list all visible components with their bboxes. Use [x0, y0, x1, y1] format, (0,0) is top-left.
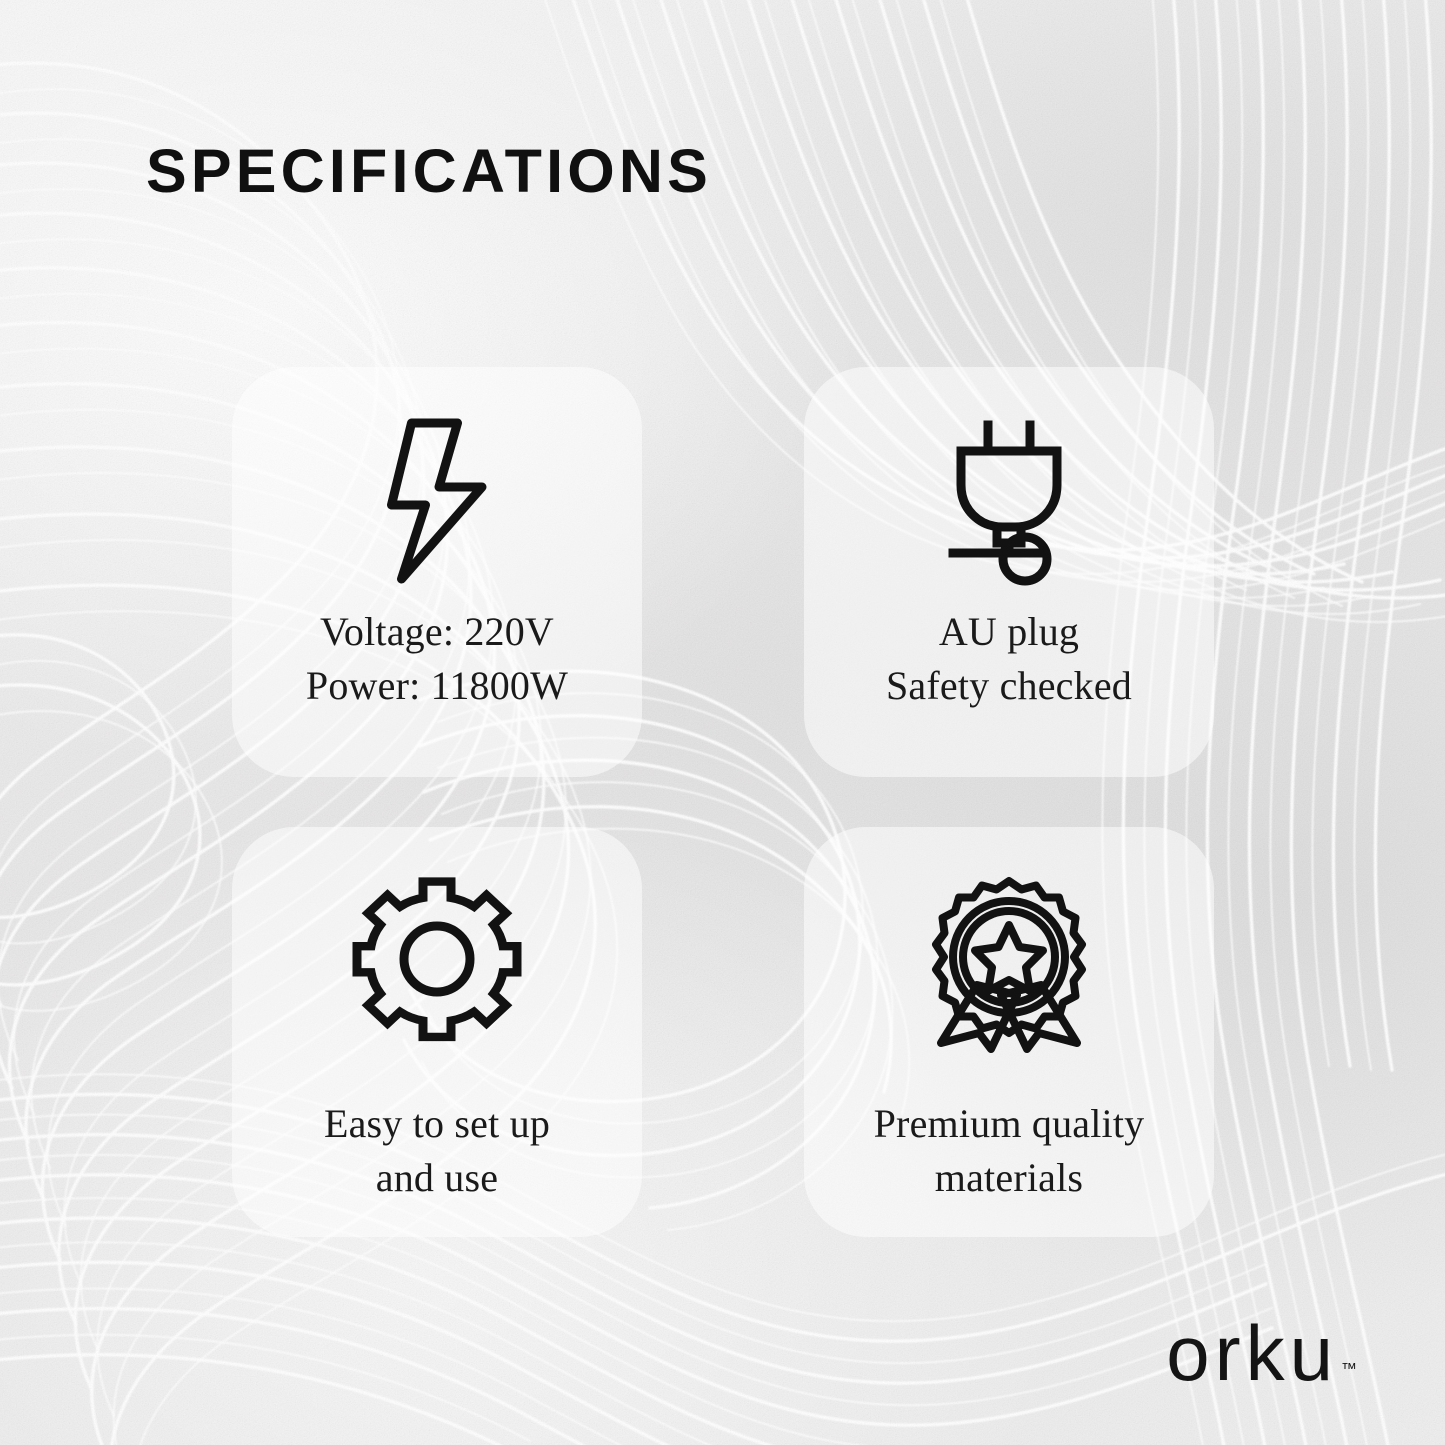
specifications-card-grid: Voltage: 220V Power: 11800W [232, 367, 1214, 1237]
spec-card-text: Premium quality materials [874, 1097, 1145, 1205]
spec-line-1: AU plug [886, 605, 1132, 659]
spec-card-au-plug[interactable]: AU plug Safety checked [804, 367, 1214, 777]
spec-line-1: Easy to set up [324, 1097, 550, 1151]
trademark-symbol: ™ [1341, 1361, 1357, 1379]
spec-card-text: Easy to set up and use [324, 1097, 550, 1205]
spec-card-voltage-power[interactable]: Voltage: 220V Power: 11800W [232, 367, 642, 777]
spec-card-text: AU plug Safety checked [886, 605, 1132, 713]
spec-line-1: Voltage: 220V [306, 605, 568, 659]
gear-icon [357, 861, 517, 1057]
spec-card-premium-quality[interactable]: Premium quality materials [804, 827, 1214, 1237]
lightning-bolt-icon [381, 401, 493, 601]
power-plug-icon [947, 401, 1071, 601]
spec-card-text: Voltage: 220V Power: 11800W [306, 605, 568, 713]
spec-card-easy-setup[interactable]: Easy to set up and use [232, 827, 642, 1237]
page-title: SPECIFICATIONS [146, 141, 712, 202]
award-ribbon-icon [929, 861, 1089, 1057]
spec-line-2: Power: 11800W [306, 659, 568, 713]
spec-line-1: Premium quality [874, 1097, 1145, 1151]
brand-name: orku [1166, 1320, 1338, 1387]
specifications-panel: SPECIFICATIONS Voltage: 220V Power: 1180… [0, 0, 1445, 1445]
spec-line-2: and use [324, 1151, 550, 1205]
brand-logo: orku ™ [1166, 1320, 1357, 1387]
spec-line-2: materials [874, 1151, 1145, 1205]
spec-line-2: Safety checked [886, 659, 1132, 713]
